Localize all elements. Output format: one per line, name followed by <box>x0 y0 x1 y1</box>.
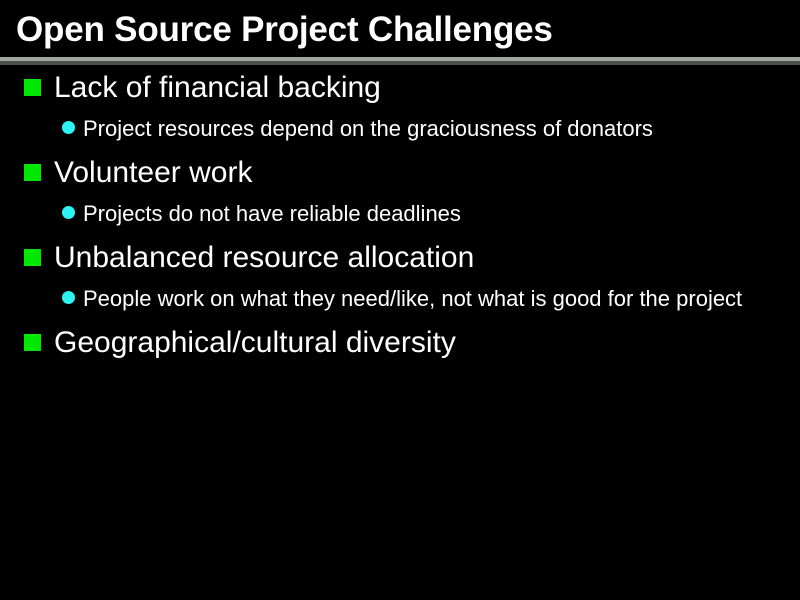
list-item: Lack of financial backing Project resour… <box>0 66 800 147</box>
round-bullet-icon <box>62 121 75 134</box>
slide-title-area: Open Source Project Challenges <box>0 0 800 57</box>
list-item: Unbalanced resource allocation People wo… <box>0 236 800 317</box>
list-item: Volunteer work Projects do not have reli… <box>0 151 800 232</box>
sub-bullet-list: Project resources depend on the gracious… <box>58 110 800 147</box>
page-title: Open Source Project Challenges <box>16 9 553 51</box>
title-divider <box>0 57 800 65</box>
list-item-label: Volunteer work <box>54 151 800 195</box>
sub-list-item: Project resources depend on the gracious… <box>58 110 800 147</box>
slide-body: Lack of financial backing Project resour… <box>0 66 800 367</box>
list-item-label: Unbalanced resource allocation <box>54 236 800 280</box>
square-bullet-icon <box>24 334 41 351</box>
sub-list-item-label: Project resources depend on the gracious… <box>83 110 743 147</box>
square-bullet-icon <box>24 79 41 96</box>
bullet-list: Lack of financial backing Project resour… <box>0 66 800 365</box>
sub-list-item-label: People work on what they need/like, not … <box>83 280 743 317</box>
round-bullet-icon <box>62 206 75 219</box>
slide: Open Source Project Challenges Lack of f… <box>0 0 800 600</box>
sub-bullet-list: Projects do not have reliable deadlines <box>58 195 800 232</box>
sub-bullet-list: People work on what they need/like, not … <box>58 280 800 317</box>
square-bullet-icon <box>24 164 41 181</box>
list-item-label: Geographical/cultural diversity <box>54 321 800 365</box>
square-bullet-icon <box>24 249 41 266</box>
list-item-label: Lack of financial backing <box>54 66 800 110</box>
sub-list-item-label: Projects do not have reliable deadlines <box>83 195 743 232</box>
sub-list-item: People work on what they need/like, not … <box>58 280 800 317</box>
divider-dark-band <box>0 61 800 65</box>
round-bullet-icon <box>62 291 75 304</box>
sub-list-item: Projects do not have reliable deadlines <box>58 195 800 232</box>
list-item: Geographical/cultural diversity <box>0 321 800 365</box>
